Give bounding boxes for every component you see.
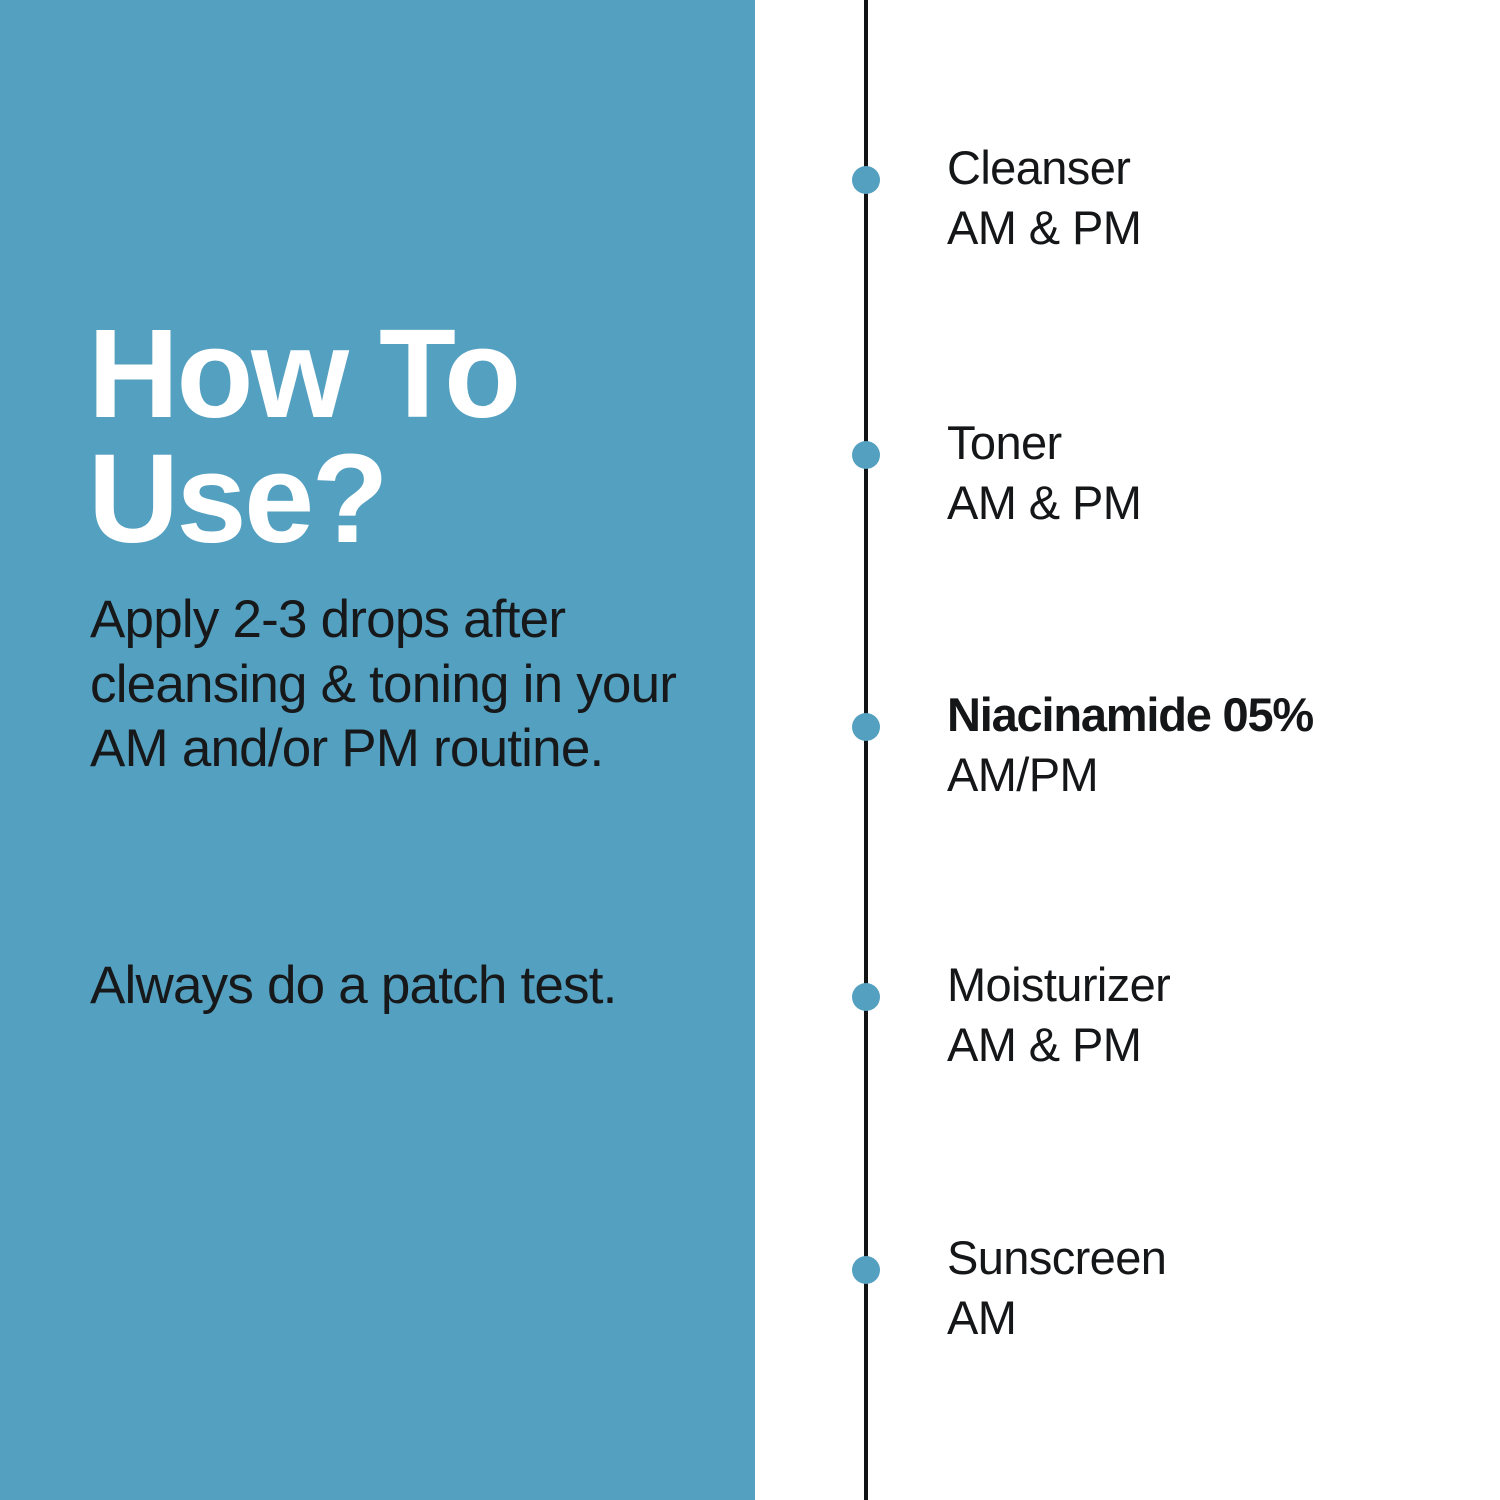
instruction-paragraph-patch-test: Always do a patch test. [90,954,750,1019]
timeline-step-text: Niacinamide 05% AM/PM [947,688,1487,801]
routine-timeline: Cleanser AM & PM Toner AM & PM Niacinami… [755,0,1500,1500]
timeline-step-text: Cleanser AM & PM [947,141,1487,254]
step-title: Sunscreen [947,1231,1487,1285]
step-schedule: AM & PM [947,476,1487,530]
step-title: Cleanser [947,141,1487,195]
timeline-step-text: Sunscreen AM [947,1231,1487,1344]
how-to-use-infographic: How To Use? Apply 2-3 drops after cleans… [0,0,1500,1500]
step-title: Toner [947,416,1487,470]
step-schedule: AM/PM [947,748,1487,802]
timeline-dot-icon [852,713,880,741]
step-title: Moisturizer [947,958,1487,1012]
page-title: How To Use? [88,312,728,561]
step-schedule: AM [947,1291,1487,1345]
timeline-dot-icon [852,166,880,194]
timeline-dot-icon [852,1256,880,1284]
step-schedule: AM & PM [947,1018,1487,1072]
timeline-step-text: Toner AM & PM [947,416,1487,529]
timeline-dot-icon [852,441,880,469]
timeline-step-text: Moisturizer AM & PM [947,958,1487,1071]
timeline-dot-icon [852,983,880,1011]
left-blue-panel: How To Use? Apply 2-3 drops after cleans… [0,0,755,1500]
step-title-highlighted: Niacinamide 05% [947,688,1487,742]
instruction-paragraph-primary: Apply 2-3 drops after cleansing & toning… [90,588,750,782]
instructions-block: Apply 2-3 drops after cleansing & toning… [90,588,750,1019]
step-schedule: AM & PM [947,201,1487,255]
